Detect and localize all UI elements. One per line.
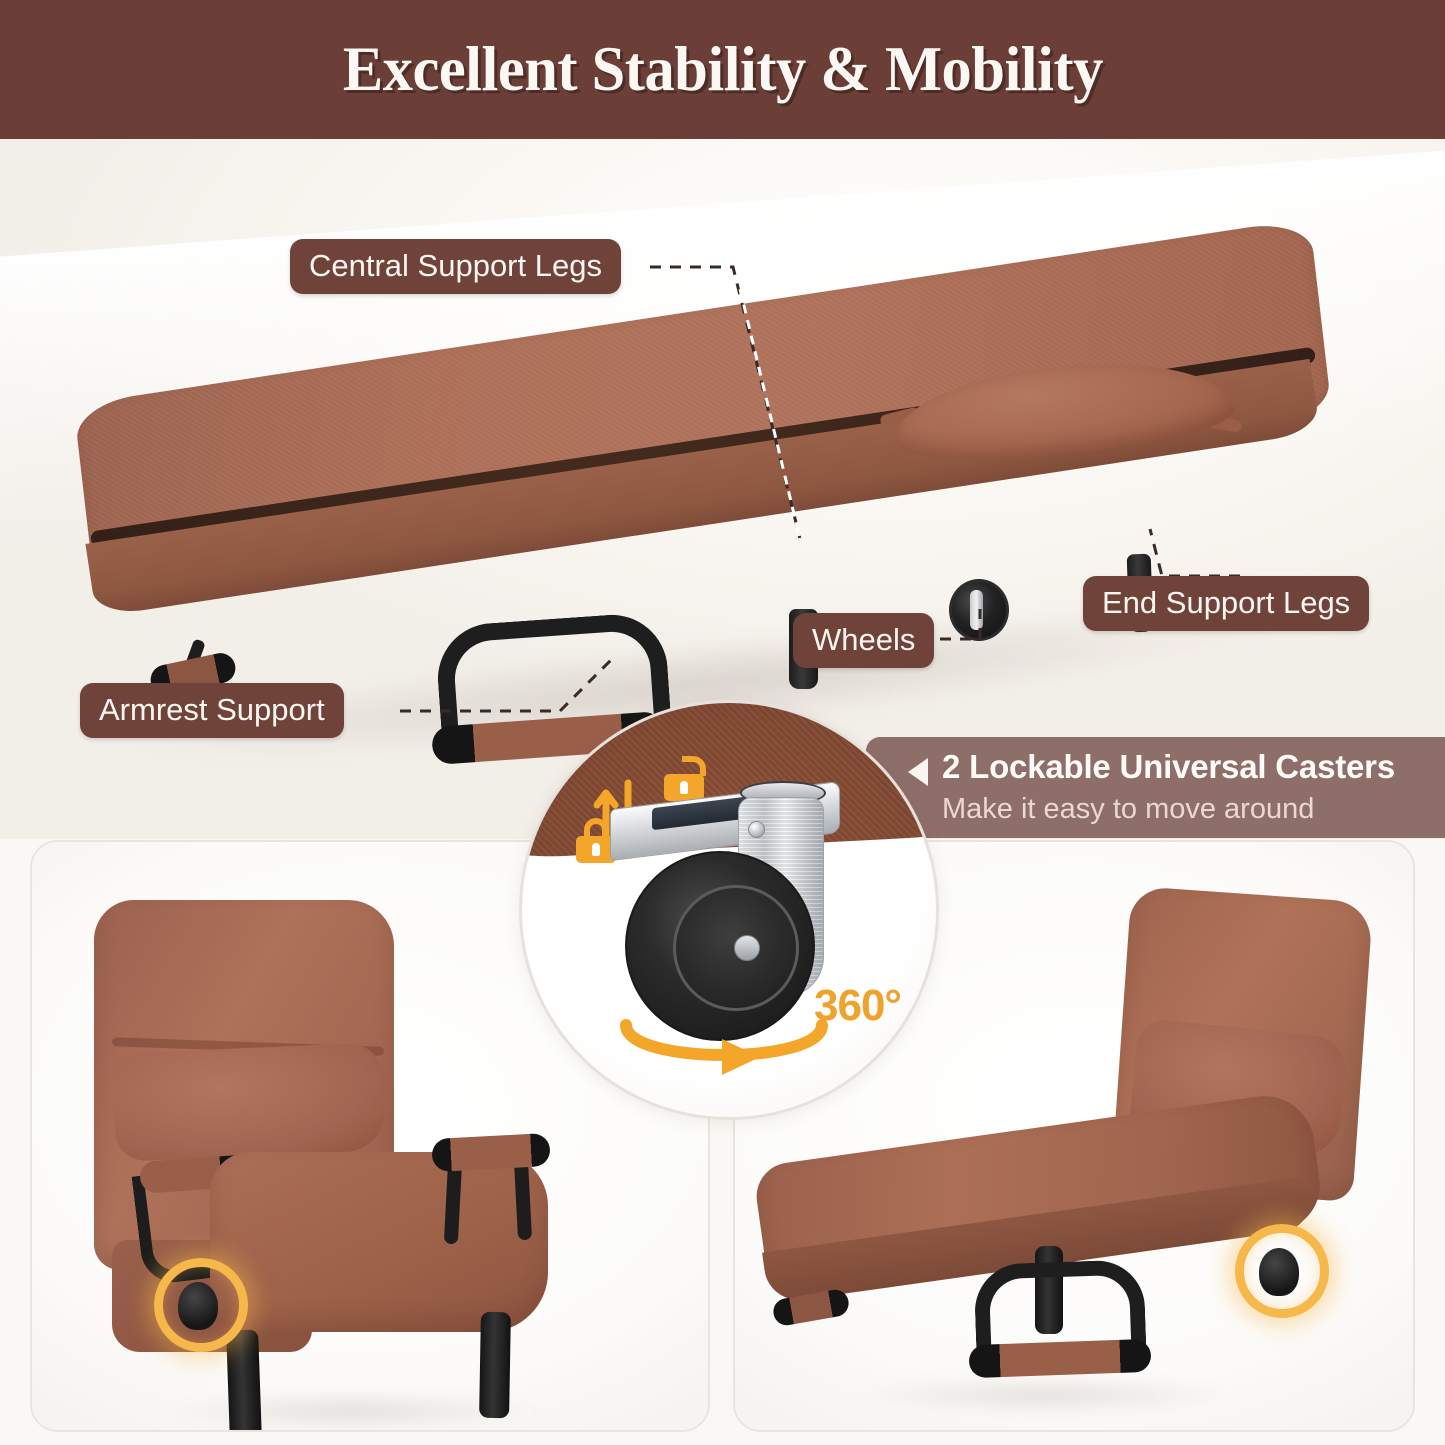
bed-caster-hub: [970, 590, 983, 630]
callout-label: Central Support Legs: [309, 248, 602, 283]
infographic-root: Excellent Stability & Mobility: [0, 0, 1445, 1445]
callout-wheels[interactable]: Wheels: [793, 613, 934, 668]
callout-label: Wheels: [812, 622, 915, 657]
caster-highlight-ring: [1235, 1224, 1329, 1318]
rotation-degrees-label: 360°: [814, 981, 901, 1031]
armchair-right-armrest-pad: [431, 1133, 551, 1172]
caster-rivet: [748, 821, 765, 838]
caster-feature-banner: 2 Lockable Universal Casters Make it eas…: [866, 737, 1445, 838]
chaise-armrest-pad: [968, 1339, 1151, 1378]
page-title: Excellent Stability & Mobility: [342, 33, 1102, 106]
lock-open-icon: [664, 759, 704, 801]
header-band: Excellent Stability & Mobility: [0, 0, 1445, 139]
caster-highlight-ring: [154, 1258, 248, 1352]
callout-armrest-support[interactable]: Armrest Support: [80, 683, 344, 738]
rotation-arrow-icon: [614, 1003, 844, 1089]
armchair-front-leg: [226, 1329, 262, 1432]
caster-banner-subtitle: Make it easy to move around: [942, 794, 1395, 826]
callout-central-support-legs[interactable]: Central Support Legs: [290, 239, 621, 294]
armchair-seat-cushion: [210, 1152, 548, 1332]
callout-label: Armrest Support: [99, 692, 325, 727]
bed-caster-wheel: [949, 579, 1009, 641]
armchair-lumbar-pillow: [112, 1042, 386, 1162]
caster-banner-title: 2 Lockable Universal Casters: [942, 749, 1395, 786]
callout-label: End Support Legs: [1102, 585, 1350, 620]
armchair-rear-leg: [479, 1312, 511, 1419]
caster-detail-closeup: 360°: [519, 700, 939, 1120]
caster-axle-hub: [734, 935, 760, 961]
callout-end-support-legs[interactable]: End Support Legs: [1083, 576, 1369, 631]
